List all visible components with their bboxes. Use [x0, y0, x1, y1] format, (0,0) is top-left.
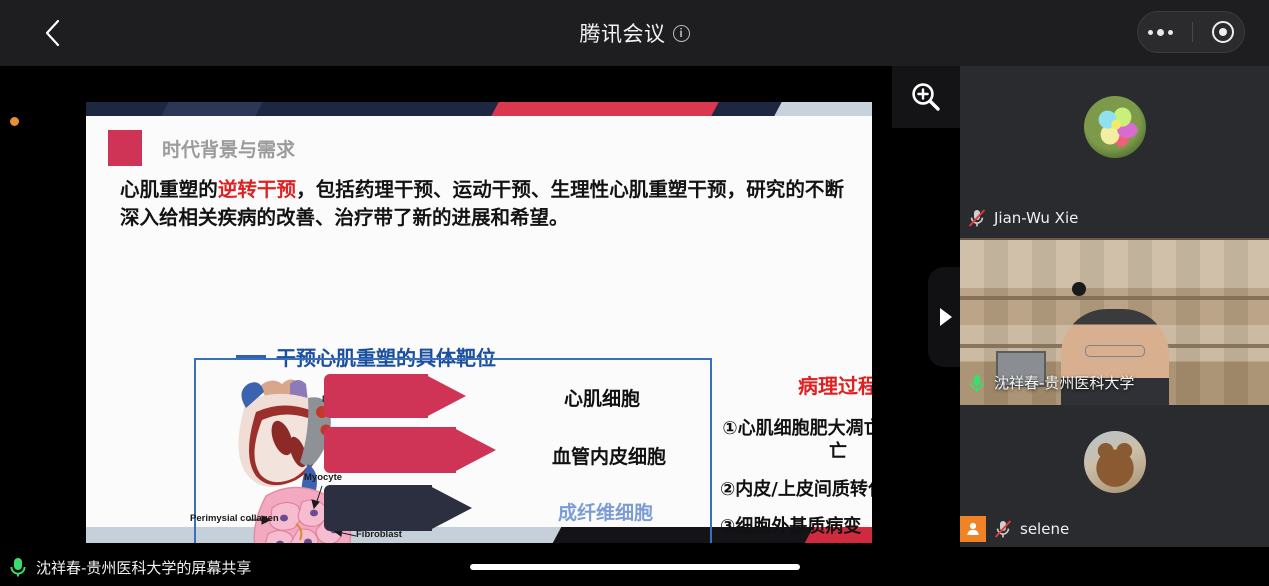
participant-tile-2[interactable]: selene — [960, 405, 1269, 547]
participant-name-2: selene — [1020, 520, 1069, 538]
pathology-item-2: ③细胞外基质病变 — [720, 515, 872, 538]
section-label: 时代背景与需求 — [162, 135, 295, 162]
participant-column: Jian-Wu Xie 沈祥春-贵州医科大学 — [960, 66, 1269, 547]
slide-body-text: 心肌重塑的逆转干预，包括药理干预、运动干预、生理性心肌重塑干预，研究的不断深入给… — [120, 176, 844, 233]
participant-tile-0[interactable]: Jian-Wu Xie — [960, 66, 1269, 238]
home-indicator[interactable] — [470, 564, 800, 570]
participant-name-1: 沈祥春-贵州医科大学 — [994, 372, 1134, 393]
slide-section-header: 时代背景与需求 — [108, 130, 295, 166]
person-glyph-icon — [965, 521, 981, 537]
mic-muted-icon — [968, 208, 986, 228]
pathology-title: 病理过程 — [720, 370, 872, 399]
slide-top-banner — [86, 102, 872, 116]
avatar — [1084, 96, 1146, 158]
target-circle-icon[interactable] — [1212, 21, 1234, 43]
screen-share-stage[interactable]: 时代背景与需求 心肌重塑的逆转干预，包括药理干预、运动干预、生理性心肌重塑干预，… — [0, 66, 960, 547]
section-marker — [108, 130, 142, 166]
shared-slide: 时代背景与需求 心肌重塑的逆转干预，包括药理干预、运动干预、生理性心肌重塑干预，… — [86, 102, 872, 543]
zoom-in-button[interactable] — [892, 66, 960, 128]
glasses-decor — [1085, 345, 1145, 357]
share-status-text: 沈祥春-贵州医科大学的屏幕共享 — [36, 557, 251, 578]
wechat-miniprogram-meeting-screen: 腾讯会议 i 时代背景与需求 心肌重塑的逆转 — [0, 0, 1269, 586]
target-arrow-2 — [324, 427, 496, 473]
mic-muted-icon — [994, 519, 1012, 539]
participant-tile-1[interactable]: 沈祥春-贵州医科大学 — [960, 238, 1269, 405]
participant-name-row-0: Jian-Wu Xie — [968, 208, 1078, 228]
target-label-2: 成纤维细胞 — [558, 498, 653, 525]
participant-name-row-2: selene — [960, 516, 1069, 542]
pathology-column: 病理过程 ①心肌细胞肥大凋亡焦亡铁死亡 ②内皮/上皮间质转化 ③细胞外基质病变 — [720, 370, 872, 543]
avatar — [1084, 431, 1146, 493]
clock-decor — [1072, 282, 1086, 296]
target-label-1: 血管内皮细胞 — [552, 442, 666, 469]
body-highlight: 逆转干预 — [218, 178, 296, 201]
mic-on-icon — [968, 373, 986, 393]
pathology-item-0: ①心肌细胞肥大凋亡焦亡铁死亡 — [720, 417, 872, 464]
capsule-divider — [1192, 22, 1193, 42]
recording-dot-icon — [10, 117, 19, 126]
target-label-0: 心肌细胞 — [564, 384, 640, 411]
target-arrow-3 — [324, 485, 472, 531]
participant-name-row-1: 沈祥春-贵州医科大学 — [968, 372, 1134, 393]
mic-on-green-icon — [8, 556, 28, 578]
participant-name-0: Jian-Wu Xie — [994, 209, 1078, 227]
target-arrow-1 — [324, 374, 464, 418]
nav-title-group: 腾讯会议 i — [0, 18, 1269, 48]
zoom-in-magnifier-icon — [909, 80, 943, 114]
label-perimysial-collagen: Perimysial collagen — [190, 513, 279, 524]
expand-panel-button[interactable] — [928, 267, 960, 367]
person-badge-icon — [960, 516, 986, 542]
miniprogram-capsule[interactable] — [1137, 11, 1245, 53]
page-title: 腾讯会议 — [580, 18, 666, 48]
body-pre: 心肌重塑的 — [120, 178, 218, 201]
expand-right-arrow-icon — [940, 308, 952, 326]
label-myocyte: Myocyte — [304, 472, 342, 483]
top-navigation-bar: 腾讯会议 i — [0, 0, 1269, 66]
share-status: 沈祥春-贵州医科大学的屏幕共享 — [8, 556, 251, 578]
pathology-item-1: ②内皮/上皮间质转化 — [720, 478, 872, 501]
info-icon[interactable]: i — [673, 25, 690, 42]
more-dots-icon[interactable] — [1148, 29, 1173, 36]
